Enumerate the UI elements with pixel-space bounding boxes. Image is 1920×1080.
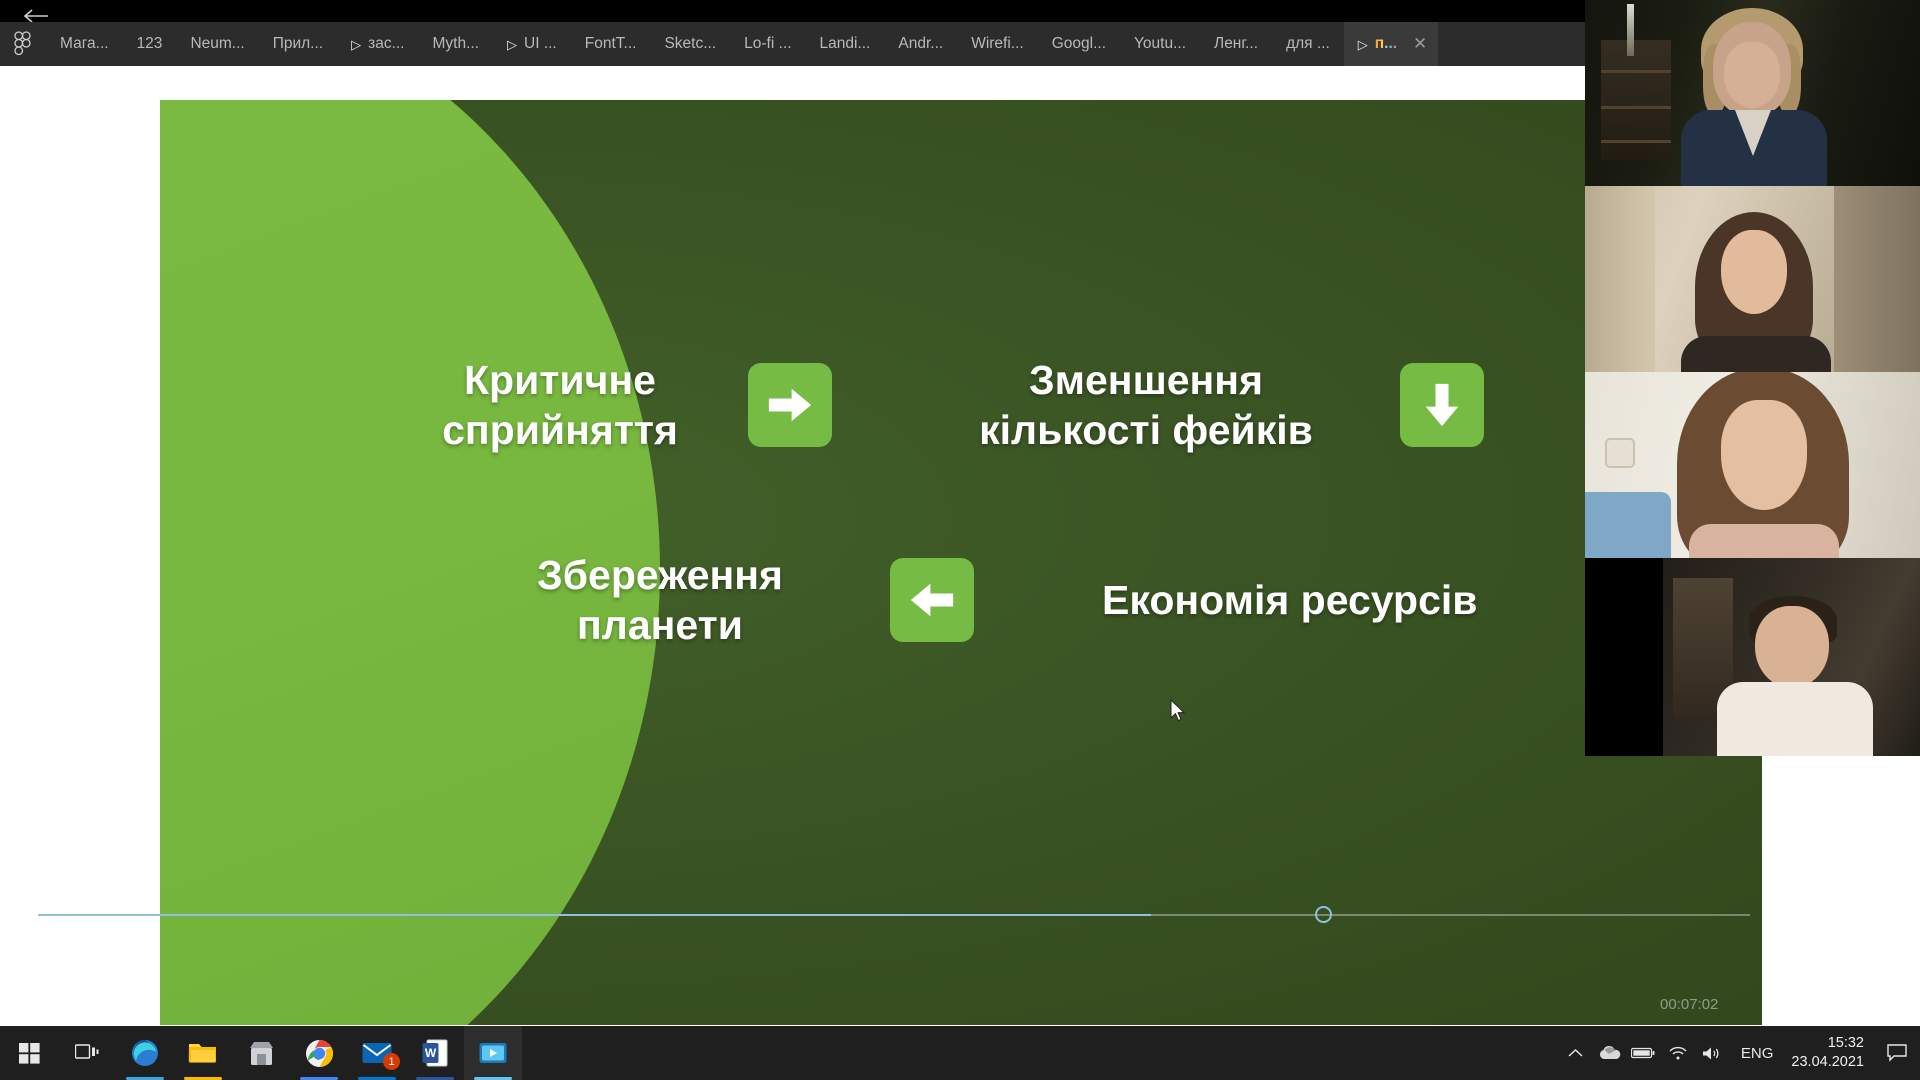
tab-label: зас... bbox=[368, 35, 404, 53]
google-chrome-icon[interactable] bbox=[290, 1026, 348, 1080]
tab-label: FontT... bbox=[585, 35, 637, 53]
microsoft-word-icon[interactable]: W bbox=[406, 1026, 464, 1080]
onedrive-icon[interactable] bbox=[1593, 1026, 1627, 1080]
tab-5[interactable]: Myth... bbox=[419, 22, 494, 66]
svg-text:W: W bbox=[425, 1046, 437, 1060]
tab-12[interactable]: Wirefi... bbox=[957, 22, 1038, 66]
play-triangle-icon: ▷ bbox=[507, 38, 517, 51]
tab-label: Ленг... bbox=[1214, 35, 1258, 53]
microsoft-store-icon[interactable] bbox=[232, 1026, 290, 1080]
clock-time: 15:32 bbox=[1828, 1034, 1864, 1053]
tab-8[interactable]: Sketc... bbox=[650, 22, 730, 66]
participant-tile-1[interactable] bbox=[1585, 0, 1920, 186]
tab-label: для ... bbox=[1286, 35, 1330, 53]
tab-11[interactable]: Andr... bbox=[884, 22, 957, 66]
tab-label: Мага... bbox=[60, 35, 109, 53]
mail-badge: 1 bbox=[383, 1053, 400, 1070]
tab-label: Googl... bbox=[1052, 35, 1106, 53]
slide-text-3: Збереження планети bbox=[510, 550, 810, 651]
participant-video-2 bbox=[1585, 186, 1920, 372]
participant-tile-2[interactable] bbox=[1585, 186, 1920, 372]
participant-tile-3[interactable] bbox=[1585, 372, 1920, 558]
play-triangle-icon: ▷ bbox=[351, 38, 361, 51]
slide-row-top: Критичне сприйняття Зменшення кількості … bbox=[410, 355, 1522, 456]
battery-icon[interactable] bbox=[1627, 1026, 1661, 1080]
tab-14[interactable]: Youtu... bbox=[1120, 22, 1200, 66]
tab-7[interactable]: FontT... bbox=[571, 22, 651, 66]
close-icon[interactable]: ✕ bbox=[1410, 34, 1430, 54]
system-tray[interactable]: ENG 15:32 23.04.2021 bbox=[1559, 1026, 1920, 1080]
video-player-icon[interactable] bbox=[464, 1026, 522, 1080]
tab-label: Myth... bbox=[433, 35, 480, 53]
language-indicator[interactable]: ENG bbox=[1729, 1026, 1786, 1080]
seek-handle[interactable] bbox=[1315, 906, 1332, 923]
slide-text-2: Зменшення кількості фейків bbox=[966, 355, 1326, 456]
tab-15[interactable]: Ленг... bbox=[1200, 22, 1272, 66]
tab-active[interactable]: ▷ п... ✕ bbox=[1344, 22, 1438, 66]
presentation-slide[interactable]: Критичне сприйняття Зменшення кількості … bbox=[160, 100, 1762, 1025]
show-hidden-icons-icon[interactable] bbox=[1559, 1026, 1593, 1080]
tab-label: Andr... bbox=[898, 35, 943, 53]
file-explorer-icon[interactable] bbox=[174, 1026, 232, 1080]
clock-date: 23.04.2021 bbox=[1791, 1053, 1864, 1072]
tab-label: Sketc... bbox=[664, 35, 716, 53]
tab-3[interactable]: Прил... bbox=[259, 22, 337, 66]
tab-label: Lo-fi ... bbox=[744, 35, 791, 53]
participant-video-1 bbox=[1585, 0, 1920, 186]
slide-text-4: Економія ресурсів bbox=[1102, 575, 1478, 625]
participant-video-4 bbox=[1585, 558, 1920, 756]
slide-row-bottom: Збереження планети Економія ресурсів bbox=[510, 550, 1478, 651]
tab-label: Youtu... bbox=[1134, 35, 1186, 53]
tab-2[interactable]: Neum... bbox=[176, 22, 258, 66]
tab-6[interactable]: ▷ UI ... bbox=[493, 22, 571, 66]
tab-label: Прил... bbox=[273, 35, 323, 53]
tab-label: 123 bbox=[137, 35, 163, 53]
arrow-left-icon bbox=[890, 558, 974, 642]
arrow-down-icon bbox=[1400, 363, 1484, 447]
windows-start-icon[interactable] bbox=[0, 1026, 58, 1080]
tab-16[interactable]: для ... bbox=[1272, 22, 1344, 66]
microsoft-edge-icon[interactable] bbox=[116, 1026, 174, 1080]
participant-tile-4[interactable] bbox=[1585, 558, 1920, 756]
seek-progress bbox=[38, 914, 1151, 916]
tab-1[interactable]: 123 bbox=[123, 22, 177, 66]
windows-taskbar[interactable]: 1 W bbox=[0, 1026, 1920, 1080]
play-triangle-icon: ▷ bbox=[1358, 38, 1368, 51]
mail-icon[interactable]: 1 bbox=[348, 1026, 406, 1080]
screen: Мага... 123 Neum... Прил... ▷ зас... Myt… bbox=[0, 0, 1920, 1080]
clock[interactable]: 15:32 23.04.2021 bbox=[1785, 1026, 1878, 1080]
seek-bar[interactable] bbox=[38, 912, 1750, 918]
wifi-icon[interactable] bbox=[1661, 1026, 1695, 1080]
tab-9[interactable]: Lo-fi ... bbox=[730, 22, 805, 66]
tab-0[interactable]: Мага... bbox=[46, 22, 123, 66]
tab-label: Wirefi... bbox=[971, 35, 1024, 53]
tab-13[interactable]: Googl... bbox=[1038, 22, 1120, 66]
tab-label: UI ... bbox=[524, 35, 557, 53]
arrow-right-icon bbox=[748, 363, 832, 447]
participant-video-3 bbox=[1585, 372, 1920, 558]
slide-text-1: Критичне сприйняття bbox=[410, 355, 710, 456]
action-center-icon[interactable] bbox=[1878, 1026, 1916, 1080]
task-view-icon[interactable] bbox=[58, 1026, 116, 1080]
tab-10[interactable]: Landi... bbox=[806, 22, 885, 66]
tab-label: Neum... bbox=[190, 35, 244, 53]
tab-4[interactable]: ▷ зас... bbox=[337, 22, 418, 66]
figma-logo-icon[interactable] bbox=[0, 22, 46, 66]
volume-icon[interactable] bbox=[1695, 1026, 1729, 1080]
tab-label: Landi... bbox=[820, 35, 871, 53]
conference-tiles bbox=[1585, 0, 1920, 756]
slide-content: Критичне сприйняття Зменшення кількості … bbox=[160, 100, 1762, 1025]
tab-label: п... bbox=[1375, 35, 1397, 53]
